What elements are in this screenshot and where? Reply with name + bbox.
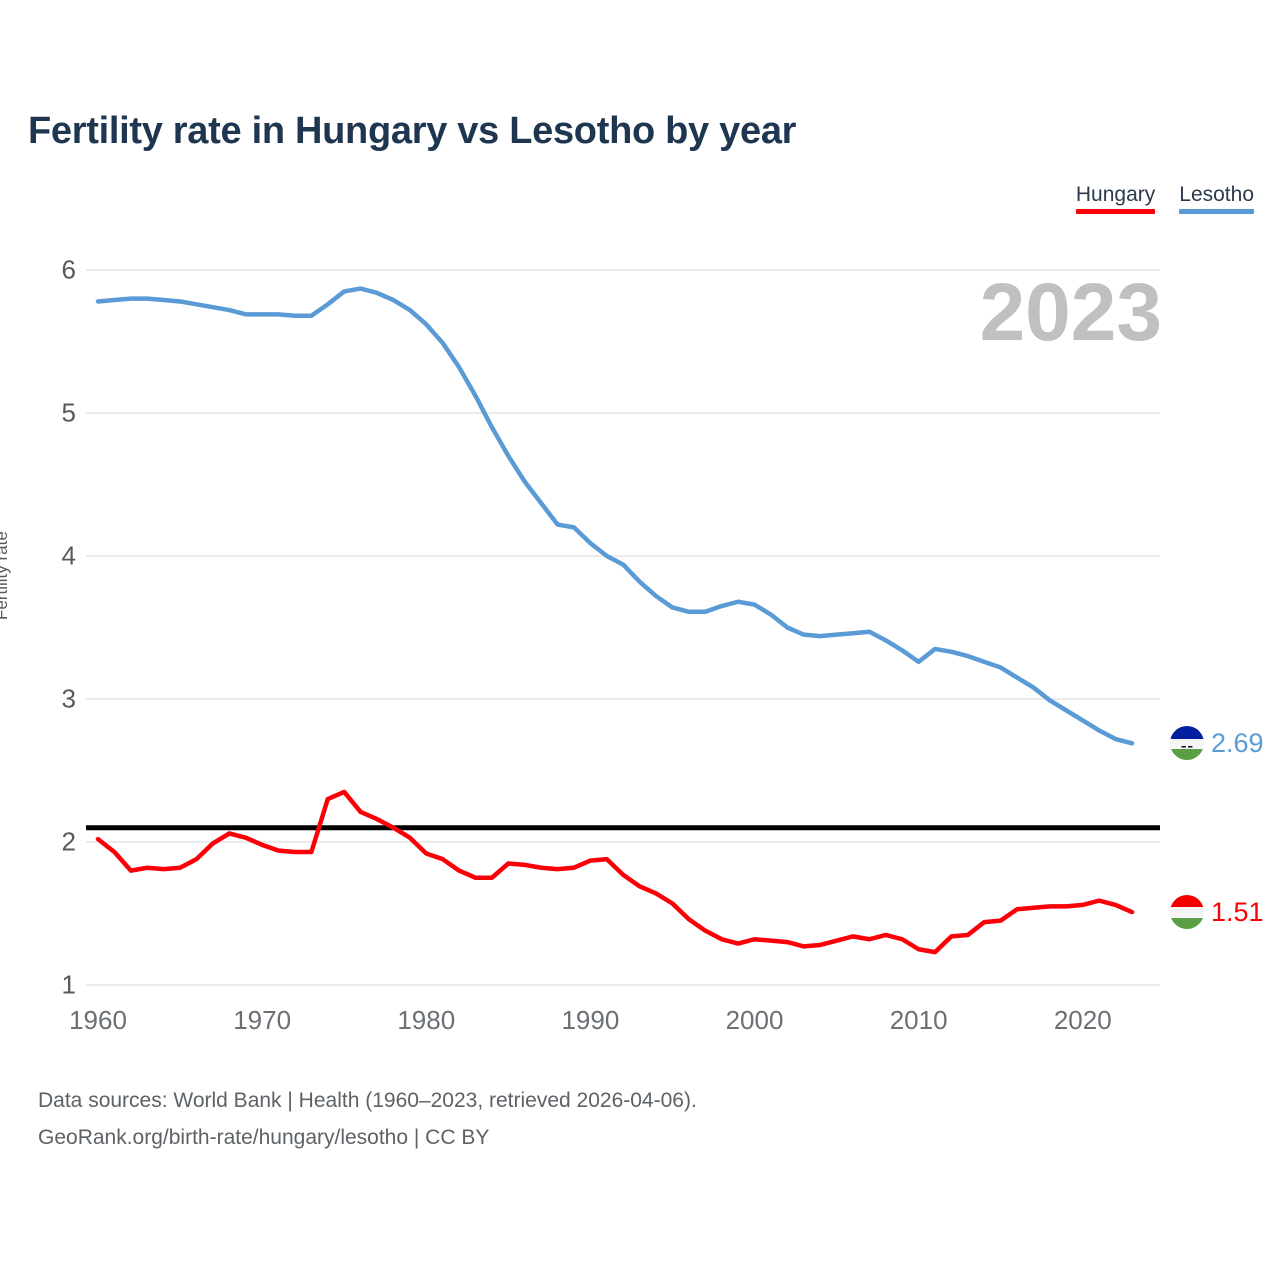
legend-item-hungary[interactable]: Hungary <box>1076 184 1155 214</box>
chart-page: Fertility rate in Hungary vs Lesotho by … <box>0 0 1280 1280</box>
x-tick-label: 1990 <box>540 1005 640 1036</box>
watermark-year: 2023 <box>980 272 1162 354</box>
x-tick-label: 1980 <box>376 1005 476 1036</box>
end-value-lesotho: 2.69 <box>1211 728 1264 759</box>
x-tick-label: 2020 <box>1033 1005 1133 1036</box>
series-lines <box>98 289 1132 953</box>
legend-label-hungary: Hungary <box>1076 184 1155 206</box>
footer-line-sources: Data sources: World Bank | Health (1960–… <box>38 1083 697 1120</box>
legend-swatch-lesotho <box>1179 209 1254 214</box>
footer-line-attribution: GeoRank.org/birth-rate/hungary/lesotho |… <box>38 1120 697 1157</box>
gridlines <box>86 270 1160 985</box>
end-value-hungary: 1.51 <box>1211 897 1264 928</box>
page-title: Fertility rate in Hungary vs Lesotho by … <box>28 110 796 153</box>
legend: Hungary Lesotho <box>1076 184 1254 214</box>
x-tick-label: 1960 <box>48 1005 148 1036</box>
y-tick-label: 5 <box>30 398 76 429</box>
y-tick-label: 2 <box>30 827 76 858</box>
lesotho-flag-icon: ⚋ <box>1170 726 1204 760</box>
y-tick-label: 6 <box>30 255 76 286</box>
y-tick-label: 4 <box>30 541 76 572</box>
y-tick-label: 3 <box>30 684 76 715</box>
y-axis-label: Fertility rate <box>0 531 12 620</box>
footer: Data sources: World Bank | Health (1960–… <box>38 1083 697 1157</box>
x-tick-label: 2000 <box>705 1005 805 1036</box>
x-tick-label: 2010 <box>869 1005 969 1036</box>
legend-swatch-hungary <box>1076 209 1155 214</box>
series-line-lesotho <box>98 289 1132 744</box>
x-tick-label: 1970 <box>212 1005 312 1036</box>
series-line-hungary <box>98 792 1132 952</box>
end-label-hungary: 1.51 <box>1170 895 1264 929</box>
legend-item-lesotho[interactable]: Lesotho <box>1179 184 1254 214</box>
legend-label-lesotho: Lesotho <box>1179 184 1254 206</box>
hungary-flag-icon <box>1170 895 1204 929</box>
end-label-lesotho: ⚋ 2.69 <box>1170 726 1264 760</box>
y-tick-label: 1 <box>30 970 76 1001</box>
